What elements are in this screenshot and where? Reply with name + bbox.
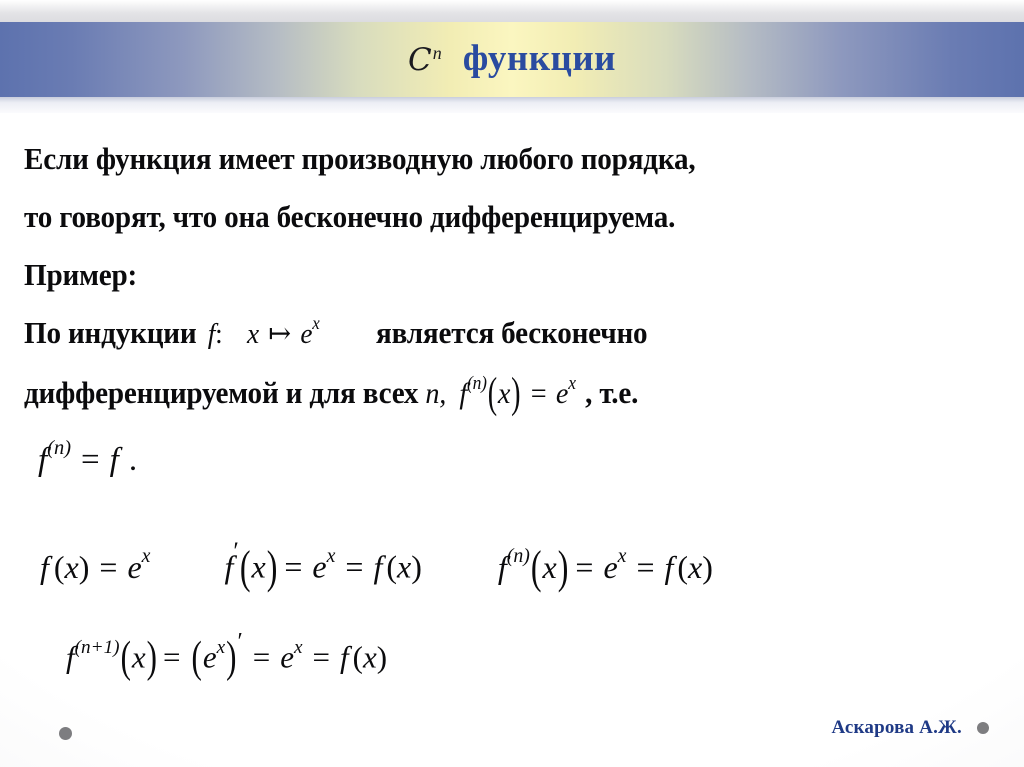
footer-bullet-left-icon <box>59 727 72 740</box>
line5-inline-math: f(n)(x)=ex <box>459 377 575 410</box>
class-c-symbol: C <box>408 42 432 78</box>
math-f-rhs: f <box>110 442 119 478</box>
math-x-rhs: x <box>688 549 702 585</box>
math-e: e <box>203 639 217 674</box>
math-x: x <box>543 549 557 585</box>
footer-bullet-right-icon <box>977 722 989 734</box>
math-equals-2: = <box>345 549 363 585</box>
line5-text-prefix: дифференцируемой и для всех <box>24 375 418 410</box>
line4-text-prefix: По индукции <box>24 315 197 350</box>
math-exponent-x: x <box>312 313 319 333</box>
line4-inline-math: f:x↦ex <box>208 318 320 350</box>
math-exponent-x: x <box>217 637 226 658</box>
math-mapsto-arrow: ↦ <box>268 318 291 350</box>
math-open-paren: ( <box>54 549 65 585</box>
math-close-paren-rhs: ) <box>377 639 387 674</box>
math-order-n-plus-1: (n+1) <box>75 637 120 658</box>
math-colon: : <box>215 318 222 350</box>
math-equals-2: = <box>253 639 270 674</box>
math-x: x <box>251 549 265 585</box>
header-top-strip <box>0 0 1024 22</box>
math-order-n: (n) <box>467 373 487 394</box>
math-exponent-x: x <box>618 545 627 567</box>
math-group-open-paren: ( <box>190 631 202 683</box>
math-f: f <box>66 639 75 674</box>
math-e-2: e <box>280 639 294 674</box>
math-e: e <box>603 549 617 585</box>
footer-author-name: Аскарова А.Ж. <box>831 717 962 739</box>
math-equals-1: = <box>284 549 302 585</box>
math-open-paren-rhs: ( <box>353 639 363 674</box>
math-order-n: (n) <box>47 437 71 459</box>
math-x: x <box>498 377 510 410</box>
math-equals-3: = <box>313 639 330 674</box>
equation-fn-equals-f: f(n)=f. <box>38 441 137 479</box>
equation-f-prime-of-x: f′(x)=ex=f(x) <box>224 545 421 586</box>
slide-title-band: Cn функции <box>0 22 1024 97</box>
body-line-2: то говорят, что она бесконечно дифференц… <box>24 199 675 235</box>
math-f-rhs: f <box>665 549 674 585</box>
math-f: f <box>40 549 49 585</box>
math-close-paren: ) <box>557 540 570 594</box>
math-equals: = <box>99 549 117 585</box>
equation-f-nth-of-x: f(n)(x)=ex=f(x) <box>498 549 713 586</box>
equation-row: f(x)=ex f′(x)=ex=f(x) f(n)(x)=ex=f(x) <box>40 545 1000 586</box>
math-f-rhs: f <box>373 549 382 585</box>
math-x-rhs: x <box>363 639 377 674</box>
line5-n: n, <box>425 377 446 410</box>
math-exponent-x: x <box>142 545 151 567</box>
math-close-paren: ) <box>510 369 521 418</box>
math-open-paren-rhs: ( <box>677 549 688 585</box>
math-f: f <box>38 442 47 478</box>
math-e: e <box>127 549 141 585</box>
math-exponent-x: x <box>327 545 336 567</box>
body-line-1: Если функция имеет производную любого по… <box>24 141 695 177</box>
math-equals: = <box>531 377 547 410</box>
line4-text-suffix: является бесконечно <box>376 315 647 350</box>
math-exponent-x: x <box>568 373 576 394</box>
slide-body: Если функция имеет производную любого по… <box>0 113 1024 767</box>
math-close-paren-rhs: ) <box>702 549 713 585</box>
math-e: e <box>300 318 312 350</box>
math-open-paren: ( <box>120 631 132 683</box>
header-bottom-strip <box>0 97 1024 113</box>
math-x: x <box>65 549 79 585</box>
title-word-funktsii: функции <box>463 37 616 80</box>
math-open-paren: ( <box>487 369 498 418</box>
math-equals-1: = <box>163 639 180 674</box>
math-x-rhs: x <box>397 549 411 585</box>
class-c-superscript: n <box>433 43 442 64</box>
math-prime: ′ <box>237 628 242 655</box>
math-f-rhs: f <box>340 639 349 674</box>
math-f: f <box>498 549 507 585</box>
slide-canvas: Cn функции Если функция имеет производну… <box>0 0 1024 767</box>
equation-f-of-x: f(x)=ex <box>40 549 150 586</box>
math-equals: = <box>81 442 100 478</box>
math-x: x <box>247 318 259 350</box>
body-line-3-example-label: Пример: <box>24 257 137 293</box>
math-close-paren-rhs: ) <box>411 549 422 585</box>
body-line-4: По индукцииf:x↦exявляется бесконечно <box>24 315 647 351</box>
math-open-paren-rhs: ( <box>386 549 397 585</box>
line5-text-suffix: , т.е. <box>585 375 638 410</box>
math-e: e <box>312 549 326 585</box>
math-period: . <box>129 442 137 478</box>
math-order-n: (n) <box>507 545 530 567</box>
math-close-paren: ) <box>146 631 158 683</box>
math-e: e <box>556 377 568 410</box>
body-line-5: дифференцируемой и для всех n,f(n)(x)=ex… <box>24 375 638 411</box>
math-open-paren: ( <box>530 540 543 594</box>
math-close-paren: ) <box>266 540 279 594</box>
math-exponent-x-2: x <box>294 637 303 658</box>
math-x: x <box>132 639 146 674</box>
math-close-paren: ) <box>79 549 90 585</box>
math-equals-1: = <box>575 549 593 585</box>
math-open-paren: ( <box>239 540 252 594</box>
equation-f-n-plus-1: f(n+1)(x)=(ex)′=ex=f(x) <box>66 635 387 675</box>
slide-title: Cn функции <box>408 37 616 80</box>
math-equals-2: = <box>636 549 654 585</box>
math-group-close-paren: ) <box>225 631 237 683</box>
